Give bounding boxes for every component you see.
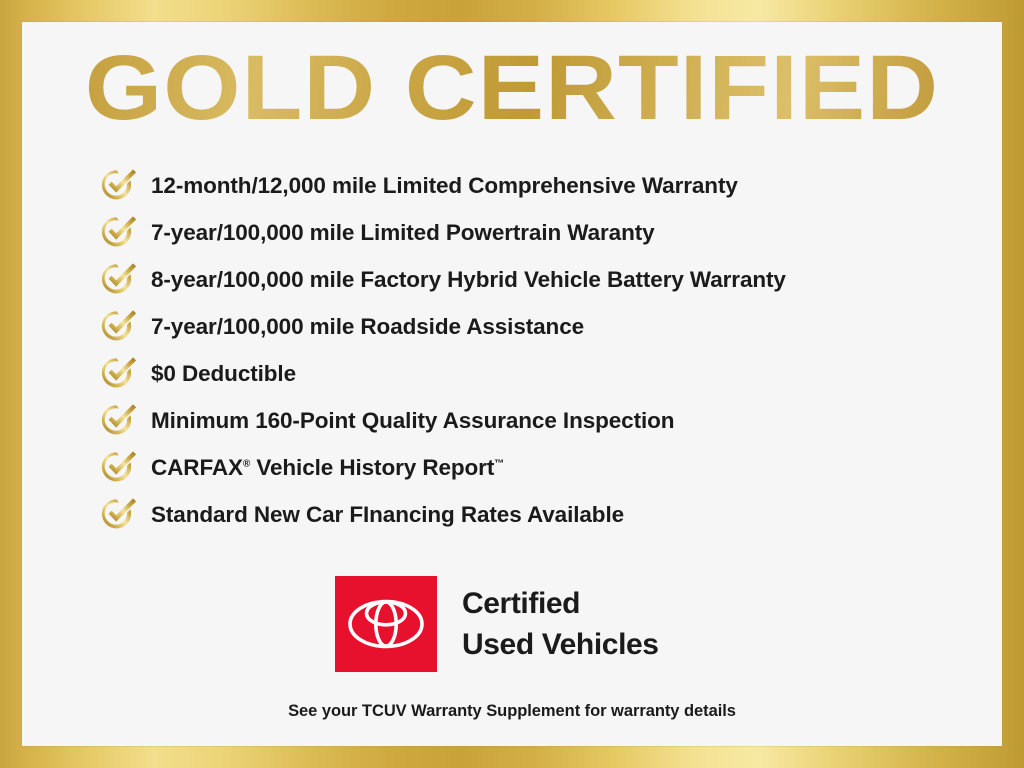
list-item: Standard New Car FInancing Rates Availab… — [97, 491, 997, 538]
carfax-report-text: Vehicle History Report — [250, 455, 494, 480]
list-item: $0 Deductible — [97, 350, 997, 397]
tcuv-logo: Certified Used Vehicles — [335, 576, 695, 672]
list-item-label: Minimum 160-Point Quality Assurance Insp… — [151, 408, 997, 434]
list-item-label: 12-month/12,000 mile Limited Comprehensi… — [151, 173, 997, 199]
gold-check-circle-icon — [97, 494, 141, 534]
list-item: 7-year/100,000 mile Roadside Assistance — [97, 303, 997, 350]
gold-check-circle-icon — [97, 212, 141, 252]
tcuv-logo-text: Certified Used Vehicles — [462, 583, 695, 665]
list-item: 12-month/12,000 mile Limited Comprehensi… — [97, 162, 997, 209]
trademark-mark: ™ — [494, 458, 504, 469]
warranty-disclaimer: See your TCUV Warranty Supplement for wa… — [22, 701, 1002, 721]
benefits-list: 12-month/12,000 mile Limited Comprehensi… — [97, 162, 997, 538]
list-item-label: Standard New Car FInancing Rates Availab… — [151, 502, 997, 528]
list-item: Minimum 160-Point Quality Assurance Insp… — [97, 397, 997, 444]
gold-check-circle-icon — [97, 306, 141, 346]
toyota-emblem-icon — [335, 576, 437, 672]
tcuv-logo-line1: Certified — [462, 583, 695, 624]
carfax-brand: CARFAX — [151, 455, 243, 480]
gold-check-circle-icon — [97, 259, 141, 299]
tcuv-logo-line2: Used Vehicles — [462, 624, 695, 665]
list-item-label: 7-year/100,000 mile Limited Powertrain W… — [151, 220, 997, 246]
gold-check-circle-icon — [97, 353, 141, 393]
list-item-label: $0 Deductible — [151, 361, 997, 387]
gold-check-circle-icon — [97, 165, 141, 205]
list-item: CARFAX® Vehicle History Report™ — [97, 444, 997, 491]
certificate-panel: GOLD CERTIFIED — [22, 22, 1002, 746]
list-item-label: CARFAX® Vehicle History Report™ — [151, 455, 997, 481]
list-item-label: 7-year/100,000 mile Roadside Assistance — [151, 314, 997, 340]
gold-check-circle-icon — [97, 447, 141, 487]
list-item: 7-year/100,000 mile Limited Powertrain W… — [97, 209, 997, 256]
gold-certified-certificate: GOLD CERTIFIED — [0, 0, 1024, 768]
page-title: GOLD CERTIFIED — [0, 38, 1024, 138]
list-item-label: 8-year/100,000 mile Factory Hybrid Vehic… — [151, 267, 997, 293]
list-item: 8-year/100,000 mile Factory Hybrid Vehic… — [97, 256, 997, 303]
gold-check-circle-icon — [97, 400, 141, 440]
